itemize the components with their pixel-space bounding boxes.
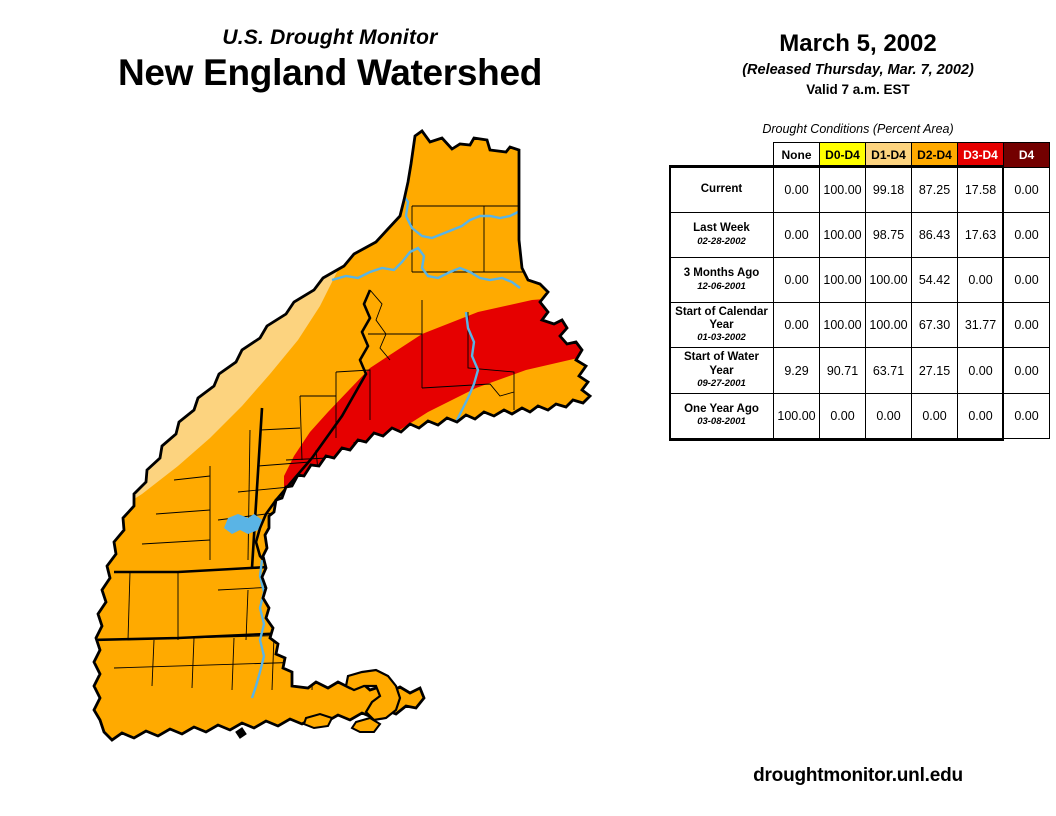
table-header: None D0-D4 D1-D4 D2-D4 D3-D4 D4 <box>670 143 1050 168</box>
cell-calyear-d3d4: 31.77 <box>958 303 1004 348</box>
col-header-d4: D4 <box>1004 143 1050 168</box>
map-date: March 5, 2002 <box>660 30 1056 58</box>
cell-oneyear-d3d4: 0.00 <box>958 393 1004 438</box>
cell-current-d4: 0.00 <box>1004 168 1050 213</box>
row-label-date: 02-28-2002 <box>672 237 771 248</box>
map-drought-fills <box>70 120 630 800</box>
table-corner-cell <box>670 143 774 168</box>
cell-current-d3d4: 17.58 <box>958 168 1004 213</box>
cell-current-d2d4: 87.25 <box>912 168 958 213</box>
cell-calyear-none: 0.00 <box>774 303 820 348</box>
row-label-text: One Year Ago <box>684 403 759 415</box>
cell-wateryear-d1d4: 63.71 <box>866 348 912 393</box>
cell-3months-d0d4: 100.00 <box>820 258 866 303</box>
row-label-date: 12-06-2001 <box>672 282 771 293</box>
cell-oneyear-d2d4: 0.00 <box>912 393 958 438</box>
cell-calyear-d2d4: 67.30 <box>912 303 958 348</box>
program-title: U.S. Drought Monitor <box>0 26 660 49</box>
cell-3months-none: 0.00 <box>774 258 820 303</box>
cell-wateryear-d2d4: 27.15 <box>912 348 958 393</box>
table-row: 3 Months Ago 12-06-2001 0.00 100.00 100.… <box>670 258 1050 303</box>
row-label-text: 3 Months Ago <box>684 267 760 279</box>
region-d2-severe <box>70 120 630 800</box>
cell-wateryear-none: 9.29 <box>774 348 820 393</box>
row-label-one-year-ago: One Year Ago 03-08-2001 <box>670 393 774 438</box>
site-url[interactable]: droughtmonitor.unl.edu <box>660 765 1056 787</box>
cell-calyear-d0d4: 100.00 <box>820 303 866 348</box>
table-row: Start of Calendar Year 01-03-2002 0.00 1… <box>670 303 1050 348</box>
table-body: Current 0.00 100.00 99.18 87.25 17.58 0.… <box>670 168 1050 439</box>
release-date: (Released Thursday, Mar. 7, 2002) <box>660 61 1056 80</box>
table-row: Current 0.00 100.00 99.18 87.25 17.58 0.… <box>670 168 1050 213</box>
drought-conditions-table: None D0-D4 D1-D4 D2-D4 D3-D4 D4 Current … <box>669 142 1050 439</box>
row-label-start-water-year: Start of Water Year 09-27-2001 <box>670 348 774 393</box>
info-panel: March 5, 2002 (Released Thursday, Mar. 7… <box>660 0 1056 816</box>
cell-3months-d1d4: 100.00 <box>866 258 912 303</box>
col-header-d1-d4: D1-D4 <box>866 143 912 168</box>
table-row: One Year Ago 03-08-2001 100.00 0.00 0.00… <box>670 393 1050 438</box>
cell-lastweek-d2d4: 86.43 <box>912 213 958 258</box>
cell-lastweek-d0d4: 100.00 <box>820 213 866 258</box>
cell-current-none: 0.00 <box>774 168 820 213</box>
row-label-text: Last Week <box>693 222 750 234</box>
row-label-date: 09-27-2001 <box>672 379 771 390</box>
row-label-text: Start of Calendar Year <box>675 306 768 331</box>
table-row: Start of Water Year 09-27-2001 9.29 90.7… <box>670 348 1050 393</box>
row-label-date: 01-03-2002 <box>672 333 771 344</box>
cell-oneyear-none: 100.00 <box>774 393 820 438</box>
cell-lastweek-d4: 0.00 <box>1004 213 1050 258</box>
cell-calyear-d4: 0.00 <box>1004 303 1050 348</box>
region-none <box>70 120 256 396</box>
drought-map[interactable] <box>70 120 630 800</box>
page-title: New England Watershed <box>0 52 660 93</box>
map-panel: U.S. Drought Monitor New England Watersh… <box>0 0 660 816</box>
cell-oneyear-d0d4: 0.00 <box>820 393 866 438</box>
col-header-d0-d4: D0-D4 <box>820 143 866 168</box>
col-header-none: None <box>774 143 820 168</box>
row-label-date: 03-08-2001 <box>672 417 771 428</box>
table-caption: Drought Conditions (Percent Area) <box>660 122 1056 136</box>
cell-current-d0d4: 100.00 <box>820 168 866 213</box>
cell-3months-d4: 0.00 <box>1004 258 1050 303</box>
table-header-row: None D0-D4 D1-D4 D2-D4 D3-D4 D4 <box>670 143 1050 168</box>
cell-lastweek-none: 0.00 <box>774 213 820 258</box>
cell-lastweek-d1d4: 98.75 <box>866 213 912 258</box>
col-header-d3-d4: D3-D4 <box>958 143 1004 168</box>
row-label-last-week: Last Week 02-28-2002 <box>670 213 774 258</box>
table-row: Last Week 02-28-2002 0.00 100.00 98.75 8… <box>670 213 1050 258</box>
cell-lastweek-d3d4: 17.63 <box>958 213 1004 258</box>
cell-3months-d3d4: 0.00 <box>958 258 1004 303</box>
row-label-3-months-ago: 3 Months Ago 12-06-2001 <box>670 258 774 303</box>
cell-calyear-d1d4: 100.00 <box>866 303 912 348</box>
cell-wateryear-d4: 0.00 <box>1004 348 1050 393</box>
row-label-current: Current <box>670 168 774 213</box>
cell-3months-d2d4: 54.42 <box>912 258 958 303</box>
row-label-text: Start of Water Year <box>684 351 759 376</box>
cell-current-d1d4: 99.18 <box>866 168 912 213</box>
valid-time: Valid 7 a.m. EST <box>660 82 1056 97</box>
cell-wateryear-d3d4: 0.00 <box>958 348 1004 393</box>
row-label-text: Current <box>701 183 743 195</box>
map-svg <box>70 120 630 800</box>
row-label-start-calendar-year: Start of Calendar Year 01-03-2002 <box>670 303 774 348</box>
cell-oneyear-d4: 0.00 <box>1004 393 1050 438</box>
date-block: March 5, 2002 (Released Thursday, Mar. 7… <box>660 30 1056 97</box>
col-header-d2-d4: D2-D4 <box>912 143 958 168</box>
title-block: U.S. Drought Monitor New England Watersh… <box>0 26 660 94</box>
cell-oneyear-d1d4: 0.00 <box>866 393 912 438</box>
cell-wateryear-d0d4: 90.71 <box>820 348 866 393</box>
